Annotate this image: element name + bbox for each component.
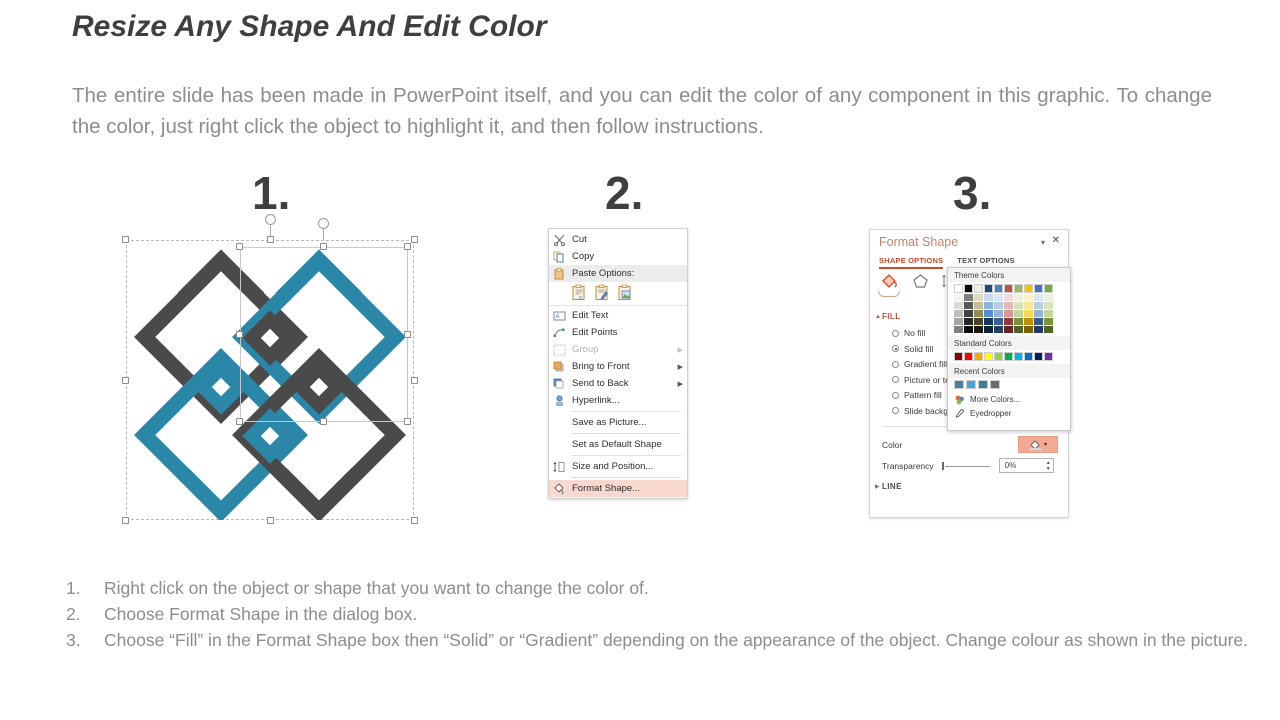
rotate-handle-outer[interactable] <box>265 214 276 225</box>
context-menu-item-label: Set as Default Shape <box>572 439 683 450</box>
copy-icon <box>552 250 567 263</box>
inner-resize-handle-n[interactable] <box>320 243 327 250</box>
eyedropper-item[interactable]: Eyedropper <box>948 406 1070 420</box>
inner-resize-handle-s[interactable] <box>320 418 327 425</box>
resize-handle-nw[interactable] <box>122 236 129 243</box>
standard-colors-row[interactable] <box>948 350 1070 364</box>
resize-handle-ne[interactable] <box>411 236 418 243</box>
divider <box>571 455 681 456</box>
theme-swatch[interactable] <box>1004 302 1013 309</box>
theme-swatch[interactable] <box>954 302 963 309</box>
fill-bucket-small-icon <box>1029 439 1042 451</box>
size-position-icon <box>552 460 567 473</box>
theme-color-column-5[interactable] <box>994 284 1003 333</box>
theme-swatch[interactable] <box>1014 302 1023 309</box>
page-title: Resize Any Shape And Edit Color <box>72 10 547 44</box>
context-menu-item-save-as-picture[interactable]: Save as Picture... <box>549 414 687 431</box>
format-pane-icon-row[interactable] <box>880 272 956 289</box>
context-menu-item-label: Format Shape... <box>572 483 683 494</box>
theme-swatch[interactable] <box>1024 326 1033 333</box>
theme-swatch[interactable] <box>974 326 983 333</box>
recent-colors-row[interactable] <box>948 378 1070 392</box>
standard-swatch[interactable] <box>954 352 963 361</box>
theme-color-column-8[interactable] <box>1024 284 1033 333</box>
slider-knob[interactable] <box>942 462 944 470</box>
theme-swatch[interactable] <box>1024 284 1033 293</box>
transparency-row[interactable]: Transparency 0% ▲▼ <box>882 458 1058 473</box>
theme-swatch[interactable] <box>974 310 983 317</box>
context-menu-item-label: Hyperlink... <box>572 395 683 406</box>
submenu-arrow-icon: ▶ <box>678 380 683 388</box>
fill-option-label: Solid fill <box>904 344 933 354</box>
theme-swatch[interactable] <box>1004 294 1013 301</box>
scissors-icon <box>552 233 567 246</box>
resize-handle-n[interactable] <box>267 236 274 243</box>
context-menu-item-label: Bring to Front <box>572 361 674 372</box>
color-dropdown-caret-icon[interactable]: ▾ <box>1044 441 1047 448</box>
theme-swatch[interactable] <box>1044 294 1053 301</box>
instruction-text: Choose Format Shape in the dialog box. <box>104 601 1266 627</box>
pentagon-effects-icon[interactable] <box>912 273 929 289</box>
color-label: Color <box>882 440 902 450</box>
theme-swatch[interactable] <box>974 318 983 325</box>
theme-swatch[interactable] <box>1024 310 1033 317</box>
radio-button[interactable] <box>892 330 899 337</box>
fill-option-label: Gradient fill <box>904 359 947 369</box>
theme-swatch[interactable] <box>954 294 963 301</box>
resize-handle-e[interactable] <box>411 377 418 384</box>
context-menu-item-set-as-default-shape[interactable]: Set as Default Shape <box>549 436 687 453</box>
transparency-slider[interactable] <box>939 461 994 471</box>
fill-section-triangle-icon[interactable]: ▲ <box>875 314 881 320</box>
theme-swatch[interactable] <box>964 310 973 317</box>
color-picker-dropdown[interactable]: Theme Colors Standard Colors Recent Colo… <box>947 267 1071 431</box>
standard-swatch[interactable] <box>974 352 983 361</box>
theme-colors-grid[interactable] <box>948 282 1070 336</box>
instruction-text: Right click on the object or shape that … <box>104 575 1266 601</box>
recent-colors-heading: Recent Colors <box>948 364 1070 378</box>
svg-text:A: A <box>556 314 560 320</box>
theme-swatch[interactable] <box>974 302 983 309</box>
theme-color-column-10[interactable] <box>1044 284 1053 333</box>
context-menu-item-format-shape[interactable]: Format Shape... <box>549 480 687 497</box>
fill-option-label: No fill <box>904 328 925 338</box>
context-menu-item-label: Edit Text <box>572 310 683 321</box>
theme-swatch[interactable] <box>1024 318 1033 325</box>
theme-swatch[interactable] <box>1004 326 1013 333</box>
theme-swatch[interactable] <box>984 310 993 317</box>
context-menu-item-label: Edit Points <box>572 327 683 338</box>
context-menu-item-bring-to-front[interactable]: Bring to Front ▶ <box>549 358 687 375</box>
spinner-arrows-icon[interactable]: ▲▼ <box>1046 459 1051 472</box>
inner-resize-handle-ne[interactable] <box>404 243 411 250</box>
submenu-arrow-icon: ▶ <box>678 363 683 371</box>
theme-swatch[interactable] <box>1044 326 1053 333</box>
theme-swatch[interactable] <box>1004 310 1013 317</box>
theme-color-column-1[interactable] <box>954 284 963 333</box>
theme-swatch[interactable] <box>954 326 963 333</box>
line-section-triangle-icon[interactable]: ▶ <box>875 483 880 490</box>
eyedropper-icon <box>954 408 965 419</box>
hyperlink-icon <box>552 394 567 407</box>
radio-button[interactable] <box>892 407 899 414</box>
theme-swatch[interactable] <box>1034 302 1043 309</box>
divider <box>549 305 687 306</box>
theme-color-column-9[interactable] <box>1034 284 1043 333</box>
selection-bounding-box-inner <box>240 247 408 422</box>
send-back-icon <box>552 377 567 390</box>
radio-button[interactable] <box>892 361 899 368</box>
context-menu-item-label: Size and Position... <box>572 461 683 472</box>
active-icon-underline <box>878 291 900 297</box>
theme-swatch[interactable] <box>1014 284 1023 293</box>
shape-selection-panel[interactable] <box>126 240 414 520</box>
radio-button[interactable] <box>892 376 899 383</box>
theme-swatch[interactable] <box>994 294 1003 301</box>
fill-bucket-icon[interactable] <box>880 272 899 289</box>
theme-swatch[interactable] <box>984 284 993 293</box>
theme-swatch[interactable] <box>1044 310 1053 317</box>
rotate-stem-outer <box>270 224 271 236</box>
theme-swatch[interactable] <box>984 294 993 301</box>
step-number-3: 3. <box>953 170 991 216</box>
paste-picture-icon[interactable] <box>617 284 634 301</box>
context-menu-item-label: Cut <box>572 234 683 245</box>
instruction-number: 3. <box>66 627 104 653</box>
context-menu-item-send-to-back[interactable]: Send to Back ▶ <box>549 375 687 392</box>
more-colors-label: More Colors... <box>970 395 1020 404</box>
more-colors-icon <box>954 394 965 405</box>
context-menu-item-group: Group ▶ <box>549 341 687 358</box>
recent-swatch[interactable] <box>966 380 976 389</box>
more-colors-item[interactable]: More Colors... <box>948 392 1070 406</box>
fill-section-heading: FILL <box>882 312 900 321</box>
theme-color-column-6[interactable] <box>1004 284 1013 333</box>
recent-swatch[interactable] <box>954 380 964 389</box>
context-menu-item-label: Group <box>572 344 674 355</box>
context-menu-item-label: Save as Picture... <box>572 417 683 428</box>
instructions-list: 1. Right click on the object or shape th… <box>66 575 1266 653</box>
resize-handle-sw[interactable] <box>122 517 129 524</box>
theme-swatch[interactable] <box>1004 284 1013 293</box>
context-menu-item-paste-options[interactable]: Paste Options: <box>549 265 687 282</box>
submenu-arrow-icon: ▶ <box>678 346 683 354</box>
resize-handle-w[interactable] <box>122 377 129 384</box>
standard-swatch[interactable] <box>1024 352 1033 361</box>
theme-swatch[interactable] <box>1034 326 1043 333</box>
fill-option-label: Pattern fill <box>904 390 942 400</box>
theme-swatch[interactable] <box>994 326 1003 333</box>
none <box>552 416 567 429</box>
theme-swatch[interactable] <box>994 318 1003 325</box>
step-number-2: 2. <box>605 170 643 216</box>
theme-swatch[interactable] <box>1044 284 1053 293</box>
theme-swatch[interactable] <box>1004 318 1013 325</box>
resize-handle-se[interactable] <box>411 517 418 524</box>
instruction-item-3: 3. Choose “Fill” in the Format Shape box… <box>66 627 1266 653</box>
theme-swatch[interactable] <box>1014 326 1023 333</box>
none <box>552 438 567 451</box>
eyedropper-label: Eyedropper <box>970 409 1011 418</box>
context-menu-item-cut[interactable]: Cut <box>549 231 687 248</box>
divider <box>571 411 681 412</box>
theme-swatch[interactable] <box>954 284 963 293</box>
theme-swatch[interactable] <box>994 284 1003 293</box>
color-picker-button[interactable]: ▾ <box>1018 436 1058 453</box>
theme-swatch[interactable] <box>1024 302 1033 309</box>
context-menu-item-size-and-position[interactable]: Size and Position... <box>549 458 687 475</box>
theme-swatch[interactable] <box>1034 284 1043 293</box>
instruction-text: Choose “Fill” in the Format Shape box th… <box>104 627 1266 653</box>
rotate-handle-inner[interactable] <box>318 218 329 229</box>
theme-swatch[interactable] <box>1034 310 1043 317</box>
step-number-1: 1. <box>252 170 290 216</box>
context-menu-item-edit-text[interactable]: A Edit Text <box>549 307 687 324</box>
theme-swatch[interactable] <box>994 302 1003 309</box>
divider <box>571 433 681 434</box>
instruction-number: 2. <box>66 601 104 627</box>
theme-swatch[interactable] <box>964 326 973 333</box>
theme-swatch[interactable] <box>974 284 983 293</box>
divider <box>571 477 681 478</box>
theme-swatch[interactable] <box>1044 318 1053 325</box>
theme-swatch[interactable] <box>1034 294 1043 301</box>
transparency-spinner[interactable]: 0% ▲▼ <box>999 458 1054 473</box>
paste-keep-text-icon[interactable]: a <box>571 284 588 301</box>
transparency-value: 0% <box>1005 461 1017 470</box>
edit-points-icon <box>552 326 567 339</box>
standard-swatch[interactable] <box>1034 352 1043 361</box>
standard-swatch[interactable] <box>1014 352 1023 361</box>
theme-swatch[interactable] <box>964 294 973 301</box>
theme-swatch[interactable] <box>954 318 963 325</box>
context-menu-item-edit-points[interactable]: Edit Points <box>549 324 687 341</box>
resize-handle-s[interactable] <box>267 517 274 524</box>
standard-swatch[interactable] <box>964 352 973 361</box>
inner-resize-handle-w[interactable] <box>236 331 243 338</box>
context-menu-item-label: Paste Options: <box>572 268 683 279</box>
line-section-heading: LINE <box>882 482 902 491</box>
standard-swatch[interactable] <box>994 352 1003 361</box>
theme-swatch[interactable] <box>994 310 1003 317</box>
page-subtitle: The entire slide has been made in PowerP… <box>72 80 1212 142</box>
inner-resize-handle-e[interactable] <box>404 331 411 338</box>
inner-resize-handle-se[interactable] <box>404 418 411 425</box>
standard-colors-heading: Standard Colors <box>948 336 1070 350</box>
theme-color-column-2[interactable] <box>964 284 973 333</box>
theme-swatch[interactable] <box>1044 302 1053 309</box>
theme-swatch[interactable] <box>1014 318 1023 325</box>
clipboard-icon <box>552 267 567 280</box>
theme-swatch[interactable] <box>1034 318 1043 325</box>
paste-keep-formatting-icon[interactable] <box>594 284 611 301</box>
inner-resize-handle-nw[interactable] <box>236 243 243 250</box>
theme-swatch[interactable] <box>954 310 963 317</box>
standard-swatch[interactable] <box>984 352 993 361</box>
recent-swatch[interactable] <box>978 380 988 389</box>
theme-swatch[interactable] <box>1014 294 1023 301</box>
context-menu-item-hyperlink[interactable]: Hyperlink... <box>549 392 687 409</box>
theme-swatch[interactable] <box>984 302 993 309</box>
inner-resize-handle-sw[interactable] <box>236 418 243 425</box>
theme-swatch[interactable] <box>964 302 973 309</box>
radio-button[interactable] <box>892 392 899 399</box>
edit-text-icon: A <box>552 309 567 322</box>
format-shape-title: Format Shape <box>879 235 958 249</box>
theme-color-column-7[interactable] <box>1014 284 1023 333</box>
rotate-stem-inner <box>323 228 324 240</box>
group-icon <box>552 343 567 356</box>
theme-color-column-4[interactable] <box>984 284 993 333</box>
instruction-number: 1. <box>66 575 104 601</box>
bring-front-icon <box>552 360 567 373</box>
theme-swatch[interactable] <box>964 318 973 325</box>
close-icon[interactable]: ✕ <box>1052 236 1060 246</box>
color-row[interactable]: Color ▾ <box>882 436 1058 453</box>
recent-swatch[interactable] <box>990 380 1000 389</box>
theme-swatch[interactable] <box>1014 310 1023 317</box>
standard-swatch[interactable] <box>1004 352 1013 361</box>
format-shape-icon <box>552 482 567 495</box>
radio-button[interactable] <box>892 345 899 352</box>
theme-colors-heading: Theme Colors <box>948 268 1070 282</box>
context-menu-item-label: Send to Back <box>572 378 674 389</box>
context-menu-item-label: Copy <box>572 251 683 262</box>
theme-swatch[interactable] <box>984 326 993 333</box>
context-menu[interactable]: Cut Copy Paste Options:aA Edit Text Edit… <box>548 228 688 499</box>
paste-options-row[interactable]: a <box>549 282 687 304</box>
theme-swatch[interactable] <box>1024 294 1033 301</box>
standard-swatch[interactable] <box>1044 352 1053 361</box>
slider-track <box>945 466 990 467</box>
context-menu-item-copy[interactable]: Copy <box>549 248 687 265</box>
theme-color-column-3[interactable] <box>974 284 983 333</box>
theme-swatch[interactable] <box>974 294 983 301</box>
slide-canvas: Resize Any Shape And Edit Color The enti… <box>0 0 1280 720</box>
instruction-item-1: 1. Right click on the object or shape th… <box>66 575 1266 601</box>
chevron-down-icon[interactable]: ▾ <box>1041 238 1045 247</box>
svg-text:a: a <box>579 295 582 301</box>
theme-swatch[interactable] <box>964 284 973 293</box>
tab-shape-options[interactable]: SHAPE OPTIONS <box>879 256 943 269</box>
transparency-label: Transparency <box>882 461 934 471</box>
theme-swatch[interactable] <box>984 318 993 325</box>
instruction-item-2: 2. Choose Format Shape in the dialog box… <box>66 601 1266 627</box>
